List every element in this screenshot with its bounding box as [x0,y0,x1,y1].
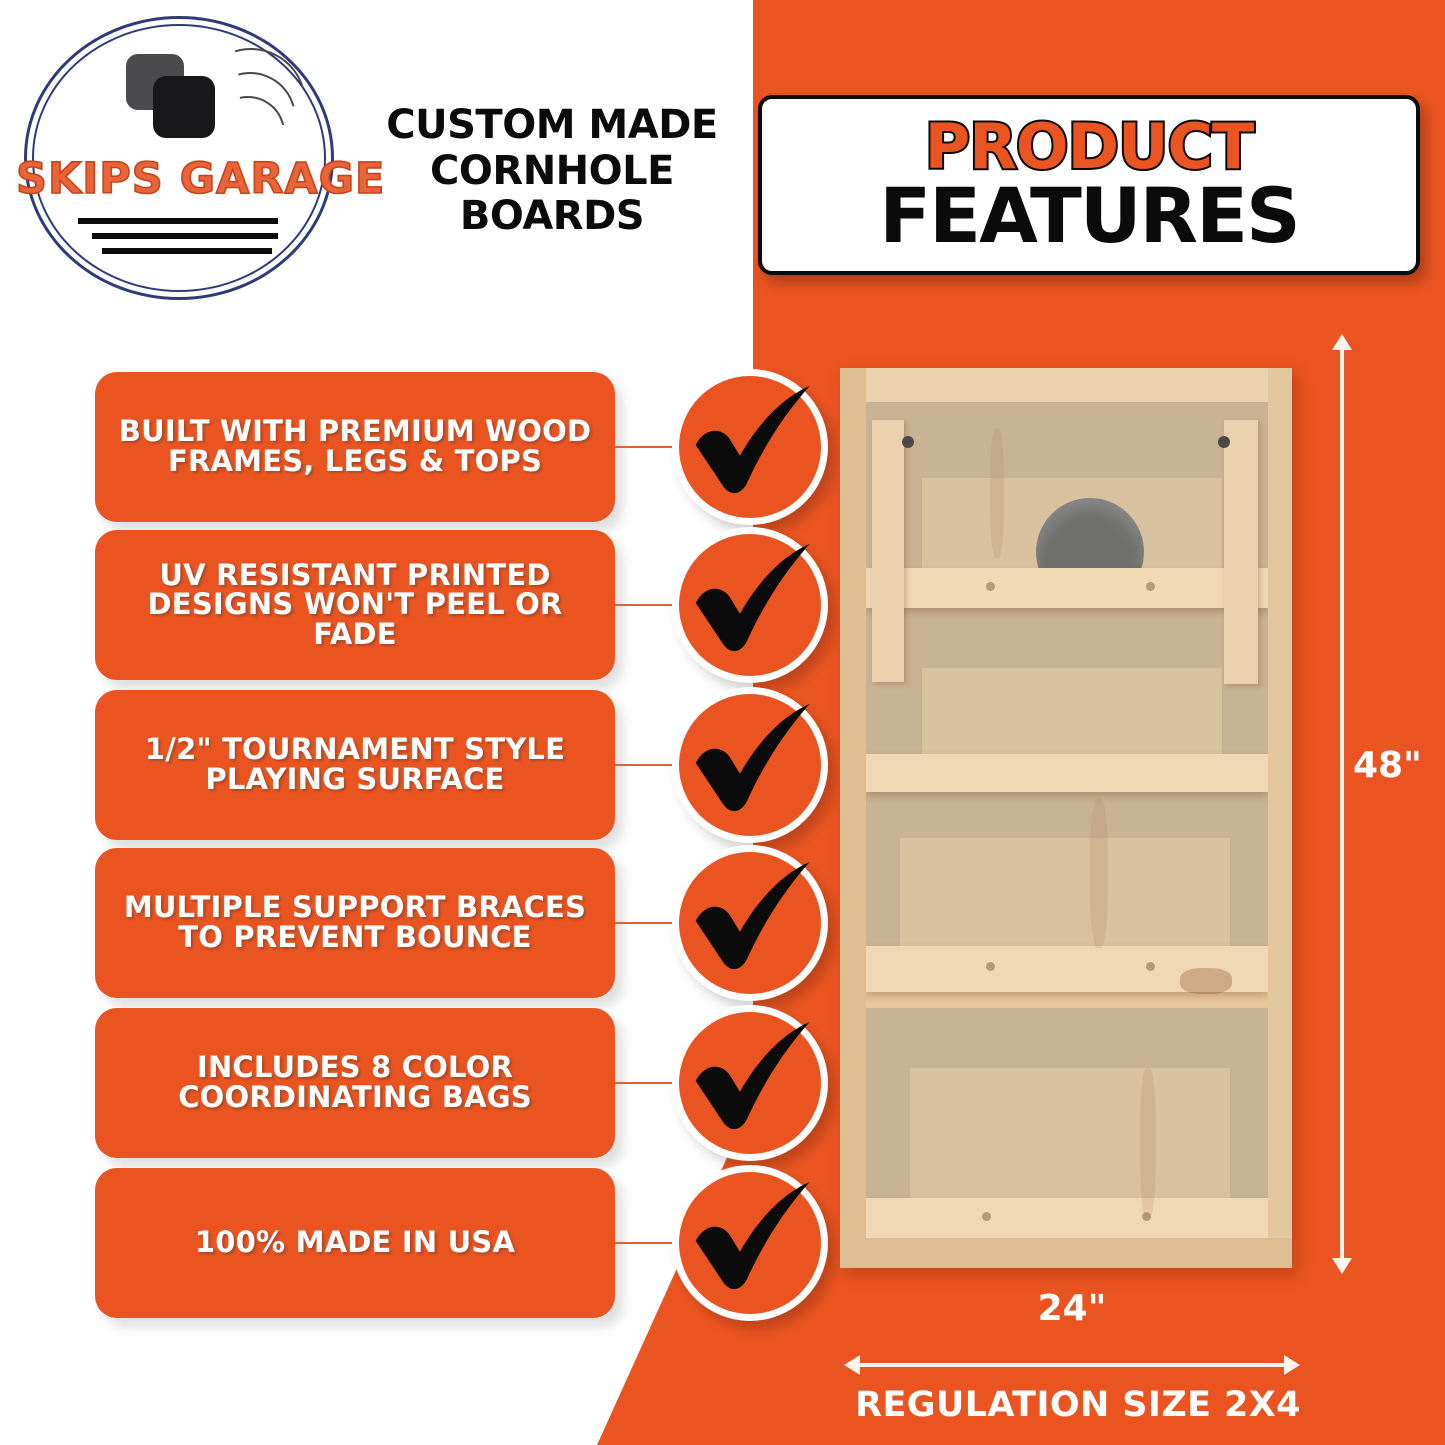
badge-line-features: FEATURES [879,180,1298,253]
feature-pill-label: MULTIPLE SUPPORT BRACES TO PREVENT BOUNC… [95,893,615,952]
cornhole-board-photo [840,368,1292,1268]
arrow-head-up [1332,334,1352,350]
board-bottom-rail [840,1238,1292,1268]
arrow-head-down [1332,1258,1352,1274]
feature-pill-label: INCLUDES 8 COLOR COORDINATING BAGS [95,1053,615,1112]
logo-divider-line [102,248,272,254]
height-dimension-label: 48" [1353,745,1422,786]
check-icon [672,1165,828,1321]
board-plywood-panel [922,668,1222,754]
check-icon [672,1005,828,1161]
arrow-head-left [844,1355,860,1375]
infographic-canvas: SKIPS GARAGE CUSTOM MADE CORNHOLE BOARDS… [0,0,1445,1445]
regulation-size-label: REGULATION SIZE 2X4 [828,1385,1328,1425]
width-dimension-label: 24" [858,1288,1286,1329]
feature-pill[interactable]: BUILT WITH PREMIUM WOOD FRAMES, LEGS & T… [95,372,615,522]
board-top-rail [840,368,1292,402]
feature-row: UV RESISTANT PRINTED DESIGNS WON'T PEEL … [0,530,840,680]
feature-pill[interactable]: MULTIPLE SUPPORT BRACES TO PREVENT BOUNC… [95,848,615,998]
double-arrow-vertical-icon [1340,348,1344,1260]
feature-pill-label: 1/2" TOURNAMENT STYLE PLAYING SURFACE [95,735,615,794]
arrow-head-right [1284,1355,1300,1375]
board-plywood-panel [900,838,1230,948]
page-title: CUSTOM MADE CORNHOLE BOARDS [352,103,752,240]
board-right-rail [1268,368,1292,1268]
check-icon [672,527,828,683]
leg-bolt-right [1218,436,1230,448]
badge-line-product: PRODUCT [925,117,1254,178]
product-features-badge: PRODUCT FEATURES [758,95,1420,275]
brand-logo: SKIPS GARAGE [18,12,348,304]
folding-leg-left [872,420,904,682]
support-brace [866,1198,1268,1240]
feature-pill-label: 100% MADE IN USA [183,1228,527,1258]
feature-row: BUILT WITH PREMIUM WOOD FRAMES, LEGS & T… [0,372,840,522]
check-icon [672,687,828,843]
feature-pill[interactable]: 1/2" TOURNAMENT STYLE PLAYING SURFACE [95,690,615,840]
feature-pill[interactable]: 100% MADE IN USA [95,1168,615,1318]
feature-row: INCLUDES 8 COLOR COORDINATING BAGS [0,1008,840,1158]
logo-divider-line [92,233,278,239]
feature-pill-label: UV RESISTANT PRINTED DESIGNS WON'T PEEL … [95,561,615,650]
feature-row: 1/2" TOURNAMENT STYLE PLAYING SURFACE [0,690,840,840]
logo-wordmark: SKIPS GARAGE [16,154,352,204]
feature-pill-label: BUILT WITH PREMIUM WOOD FRAMES, LEGS & T… [95,417,615,476]
board-left-rail [840,368,866,1268]
support-brace [866,568,1268,608]
feature-row: 100% MADE IN USA [0,1168,840,1318]
folding-leg-right [1224,420,1258,684]
check-icon [672,369,828,525]
feature-row: MULTIPLE SUPPORT BRACES TO PREVENT BOUNC… [0,848,840,998]
leg-bolt-left [902,436,914,448]
logo-divider-line [78,218,278,224]
feature-pill[interactable]: INCLUDES 8 COLOR COORDINATING BAGS [95,1008,615,1158]
check-icon [672,845,828,1001]
support-brace [866,754,1268,792]
double-arrow-horizontal-icon [858,1363,1286,1367]
feature-pill[interactable]: UV RESISTANT PRINTED DESIGNS WON'T PEEL … [95,530,615,680]
